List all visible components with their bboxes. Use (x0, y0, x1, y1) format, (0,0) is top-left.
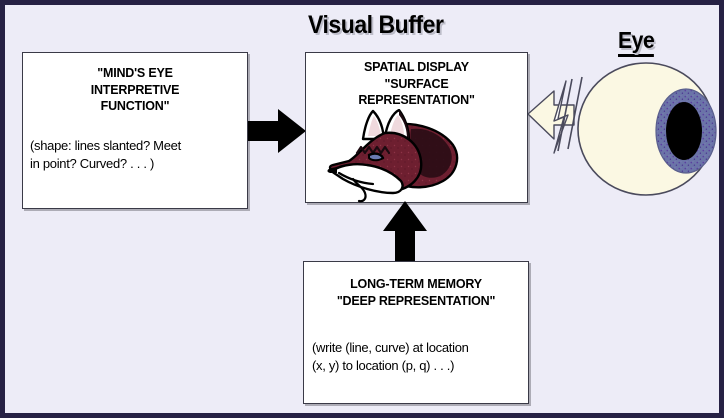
eyeball-pupil (666, 102, 702, 160)
box-minds-eye-detail-line-2: in point? Curved? . . . ) (30, 155, 240, 173)
box-long-term-memory-heading-line-2: "DEEP REPRESENTATION" (304, 293, 528, 310)
box-spatial-display-heading-line-1: SPATIAL DISPLAY (306, 59, 527, 76)
box-minds-eye-detail-line-1: (shape: lines slanted? Meet (30, 137, 240, 155)
box-minds-eye-heading-line-3: FUNCTION" (23, 98, 247, 115)
box-minds-eye-heading: "MIND'S EYE INTERPRETIVE FUNCTION" (23, 65, 247, 115)
right-arrow-icon (248, 107, 306, 155)
page-title-visual-buffer: Visual Buffer (308, 11, 443, 40)
up-arrow-icon (381, 201, 429, 263)
box-long-term-memory-detail-line-2: (x, y) to location (p, q) . . .) (312, 357, 520, 375)
box-long-term-memory-deep-representation: LONG-TERM MEMORY "DEEP REPRESENTATION" (… (303, 261, 529, 404)
box-long-term-memory-heading: LONG-TERM MEMORY "DEEP REPRESENTATION" (304, 276, 528, 309)
box-minds-eye-interpretive-function: "MIND'S EYE INTERPRETIVE FUNCTION" (shap… (22, 52, 248, 209)
box-long-term-memory-detail-line-1: (write (line, curve) at location (312, 339, 520, 357)
box-spatial-display-heading-line-2: "SURFACE (306, 76, 527, 93)
wolf-head-illustration-icon (323, 109, 463, 203)
box-spatial-display-heading: SPATIAL DISPLAY "SURFACE REPRESENTATION" (306, 59, 527, 109)
box-minds-eye-detail: (shape: lines slanted? Meet in point? Cu… (23, 137, 247, 173)
box-long-term-memory-detail: (write (line, curve) at location (x, y) … (304, 339, 528, 375)
page-title-eye: Eye (618, 27, 654, 57)
box-minds-eye-heading-line-1: "MIND'S EYE (23, 65, 247, 82)
diagram-canvas: Visual Buffer Eye "MIND'S EYE INTERPRETI… (0, 0, 724, 418)
eye-illustration (528, 59, 724, 205)
left-arrow-lightning-icon (528, 77, 582, 153)
box-spatial-display-heading-line-3: REPRESENTATION" (306, 92, 527, 109)
box-long-term-memory-heading-line-1: LONG-TERM MEMORY (304, 276, 528, 293)
box-minds-eye-heading-line-2: INTERPRETIVE (23, 82, 247, 99)
